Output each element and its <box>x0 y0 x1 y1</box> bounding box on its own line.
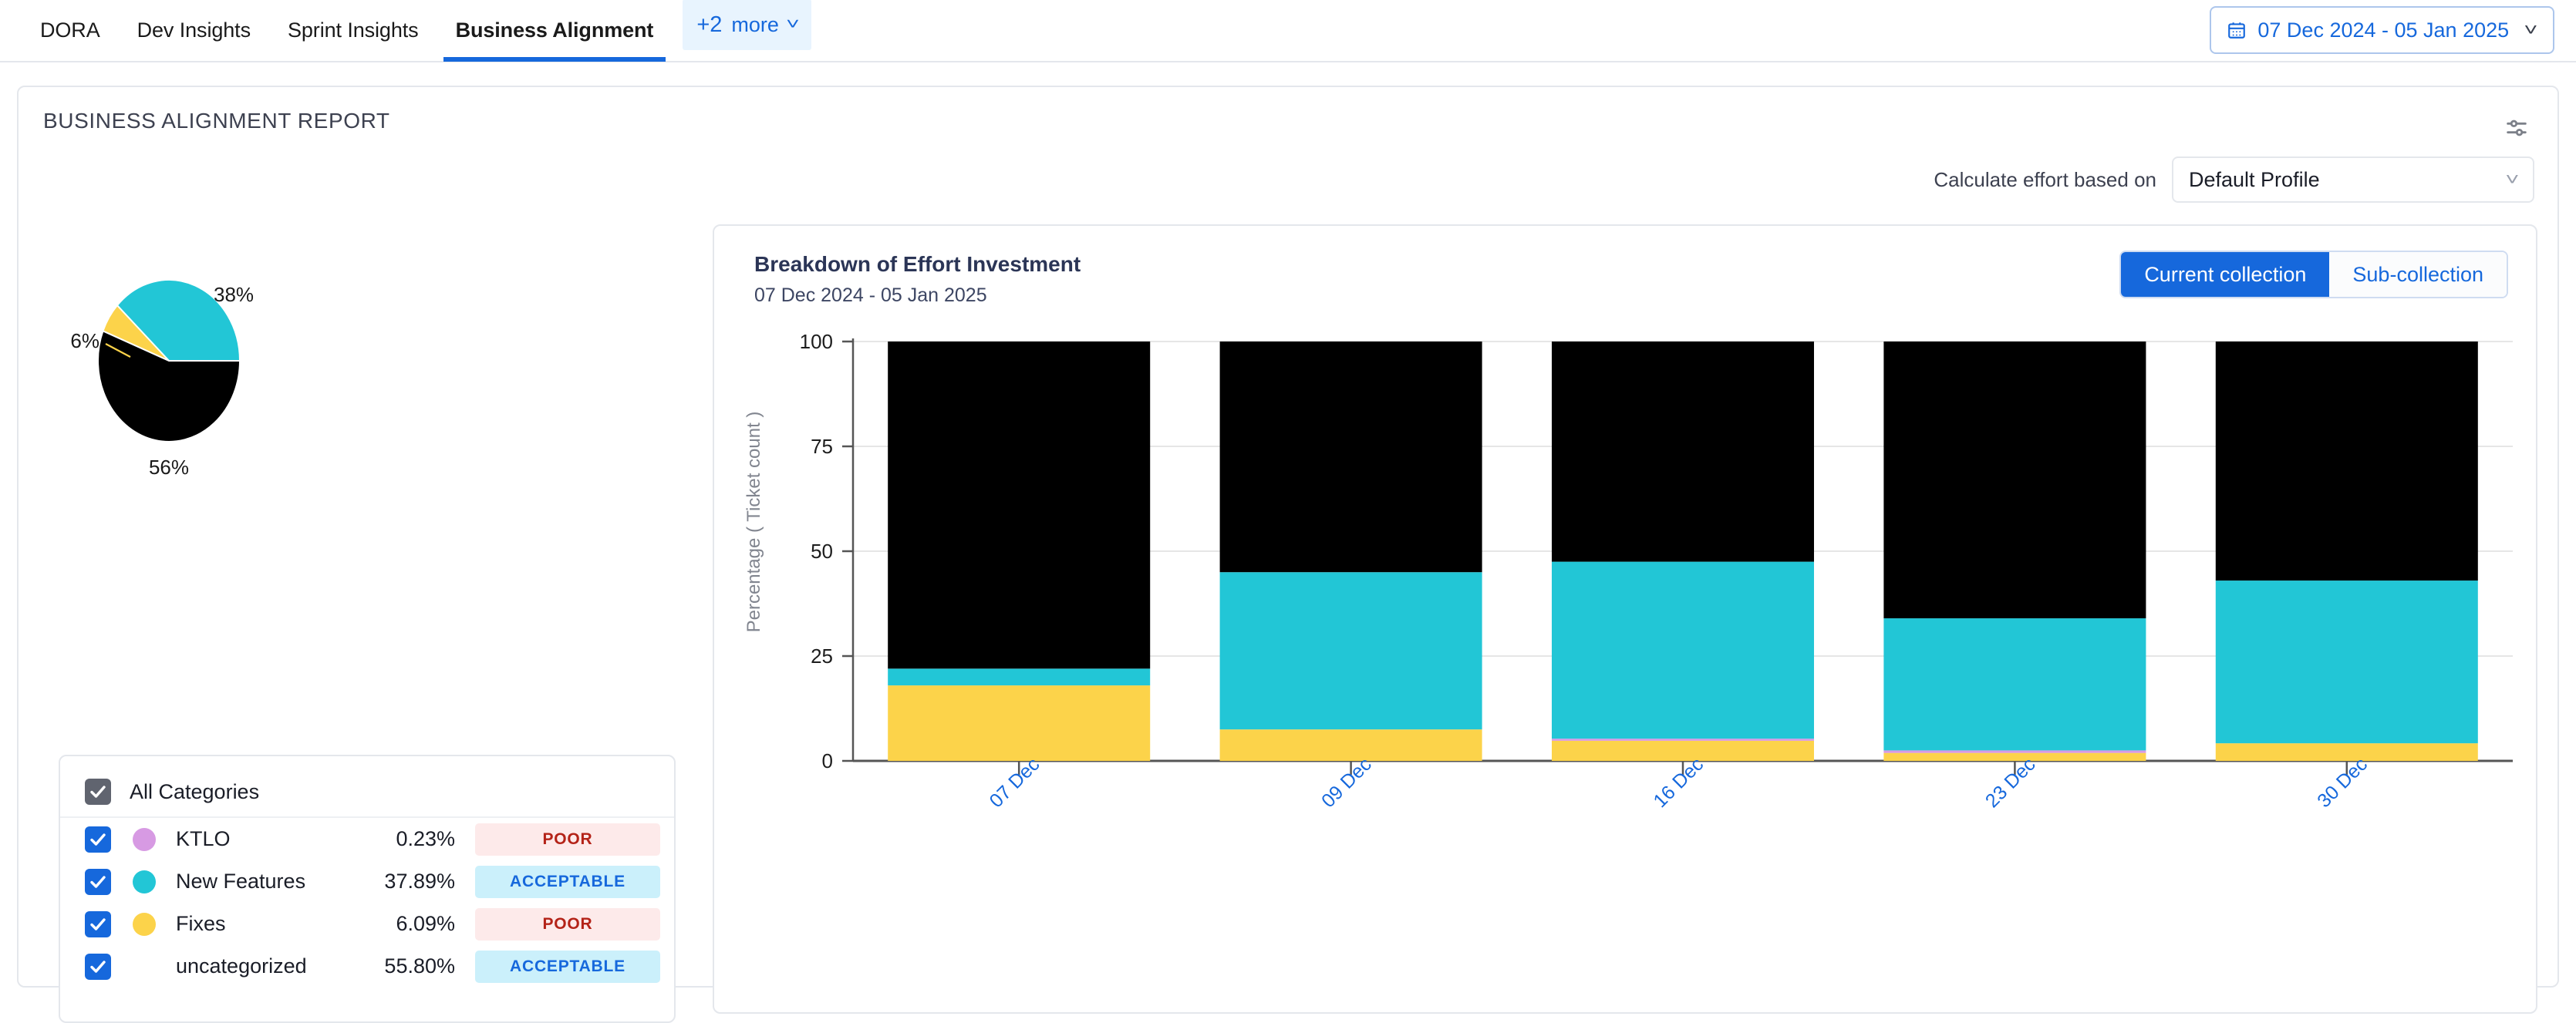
pie-svg: 38% 6% 56% <box>26 249 690 580</box>
tab-label: Dev Insights <box>137 19 251 42</box>
more-tabs-label: more <box>731 13 779 37</box>
category-color-swatch <box>133 870 156 893</box>
bar-svg: 025507510007 Dec09 Dec16 Dec23 Dec30 Dec <box>714 226 2539 1015</box>
category-name: uncategorized <box>176 954 332 978</box>
x-axis-tick-label: 23 Dec <box>1981 753 2040 812</box>
x-axis-tick-label: 09 Dec <box>1317 753 1376 812</box>
bar-segment-fixes[interactable] <box>888 685 1150 761</box>
category-legend-card: All Categories KTLO0.23%POORNew Features… <box>59 755 676 1023</box>
pie-label-fixes: 6% <box>70 329 99 352</box>
bar-segment-fixes[interactable] <box>2216 743 2478 761</box>
effort-profile-value: Default Profile <box>2189 168 2320 192</box>
tab-sprint-insights[interactable]: Sprint Insights <box>269 0 437 62</box>
bar-segment-uncategorized[interactable] <box>1220 342 1482 572</box>
calendar-icon <box>2227 20 2247 40</box>
category-percentage: 0.23% <box>332 827 455 851</box>
stacked-bar-plot: Percentage ( Ticket count ) 025507510007… <box>714 226 2539 1015</box>
list-item[interactable]: uncategorized55.80%ACCEPTABLE <box>60 945 674 988</box>
tab-strip: DORADev InsightsSprint InsightsBusiness … <box>0 0 811 62</box>
chevron-down-icon: ˅ <box>786 16 800 34</box>
pie-label-new-features: 38% <box>214 283 254 306</box>
y-axis-tick-label: 100 <box>800 330 833 353</box>
effort-profile-select[interactable]: Default Profile ˅ <box>2172 156 2534 203</box>
bar-segment-fixes[interactable] <box>1883 753 2146 761</box>
list-item[interactable]: New Features37.89%ACCEPTABLE <box>60 860 674 903</box>
date-range-picker[interactable]: 07 Dec 2024 - 05 Jan 2025 ˅ <box>2210 6 2554 54</box>
y-axis-tick-label: 25 <box>811 644 833 668</box>
bar-segment-fixes[interactable] <box>1220 729 1482 761</box>
category-percentage: 37.89% <box>332 870 455 893</box>
all-categories-checkbox[interactable] <box>85 779 111 805</box>
category-color-swatch <box>133 828 156 851</box>
category-percentage: 6.09% <box>332 912 455 936</box>
bar-segment-uncategorized[interactable] <box>888 342 1150 668</box>
list-item[interactable]: KTLO0.23%POOR <box>60 818 674 860</box>
top-tab-bar: DORADev InsightsSprint InsightsBusiness … <box>0 0 2576 62</box>
category-checkbox-new-features[interactable] <box>85 869 111 895</box>
category-percentage: 55.80% <box>332 954 455 978</box>
y-axis-label: Percentage ( Ticket count ) <box>743 368 765 676</box>
business-alignment-report-card: BUSINESS ALIGNMENT REPORT Calculate effo… <box>17 86 2559 988</box>
status-badge: POOR <box>475 908 660 941</box>
bar-segment-uncategorized[interactable] <box>2216 342 2478 580</box>
x-axis-tick-label: 16 Dec <box>1649 753 1708 812</box>
x-axis-tick-label: 07 Dec <box>986 753 1044 812</box>
bar-segment-uncategorized[interactable] <box>1552 342 1814 562</box>
bar-segment-new-features[interactable] <box>1220 572 1482 729</box>
sliders-icon[interactable] <box>2497 109 2536 147</box>
pie-label-uncategorized: 56% <box>149 456 189 479</box>
category-name: Fixes <box>176 912 332 936</box>
category-name: New Features <box>176 870 332 893</box>
date-range-value: 07 Dec 2024 - 05 Jan 2025 <box>2257 19 2509 42</box>
bar-segment-uncategorized[interactable] <box>1883 342 2146 618</box>
tab-dora[interactable]: DORA <box>22 0 119 62</box>
tab-business-alignment[interactable]: Business Alignment <box>437 0 673 62</box>
category-list: KTLO0.23%POORNew Features37.89%ACCEPTABL… <box>60 818 674 988</box>
tab-dev-insights[interactable]: Dev Insights <box>119 0 269 62</box>
status-badge: ACCEPTABLE <box>475 951 660 983</box>
all-categories-label: All Categories <box>130 780 259 804</box>
chevron-down-icon: ˅ <box>2506 170 2520 190</box>
more-tabs-button[interactable]: +2more˅ <box>683 0 811 50</box>
x-axis-tick-label: 30 Dec <box>2313 753 2372 812</box>
category-checkbox-ktlo[interactable] <box>85 826 111 853</box>
bar-segment-ktlo[interactable] <box>1883 750 2146 752</box>
all-categories-row[interactable]: All Categories <box>60 767 674 818</box>
tab-label: Business Alignment <box>456 19 654 42</box>
effort-distribution-pie-chart: 38% 6% 56% <box>26 249 690 580</box>
tab-label: DORA <box>40 19 100 42</box>
tab-label: Sprint Insights <box>288 19 419 42</box>
y-axis-tick-label: 0 <box>822 749 833 772</box>
bar-segment-fixes[interactable] <box>1552 741 1814 761</box>
y-axis-tick-label: 50 <box>811 540 833 563</box>
effort-profile-label: Calculate effort based on <box>1934 168 2156 192</box>
category-color-swatch <box>133 913 156 936</box>
bar-segment-new-features[interactable] <box>2216 580 2478 743</box>
status-badge: ACCEPTABLE <box>475 866 660 898</box>
bar-segment-new-features[interactable] <box>888 668 1150 685</box>
y-axis-tick-label: 75 <box>811 435 833 458</box>
status-badge: POOR <box>475 823 660 856</box>
list-item[interactable]: Fixes6.09%POOR <box>60 903 674 945</box>
effort-profile-row: Calculate effort based on Default Profil… <box>1934 156 2534 203</box>
effort-breakdown-card: Breakdown of Effort Investment 07 Dec 20… <box>713 224 2537 1014</box>
bar-segment-new-features[interactable] <box>1552 562 1814 739</box>
category-checkbox-fixes[interactable] <box>85 911 111 937</box>
page-title: BUSINESS ALIGNMENT REPORT <box>43 109 390 133</box>
more-tabs-count: +2 <box>696 12 722 38</box>
bar-segment-ktlo[interactable] <box>1552 739 1814 741</box>
bar-segment-new-features[interactable] <box>1883 618 2146 750</box>
category-checkbox-uncategorized[interactable] <box>85 954 111 980</box>
chevron-down-icon: ˅ <box>2524 20 2538 40</box>
category-name: KTLO <box>176 827 332 851</box>
category-color-swatch <box>133 955 156 978</box>
